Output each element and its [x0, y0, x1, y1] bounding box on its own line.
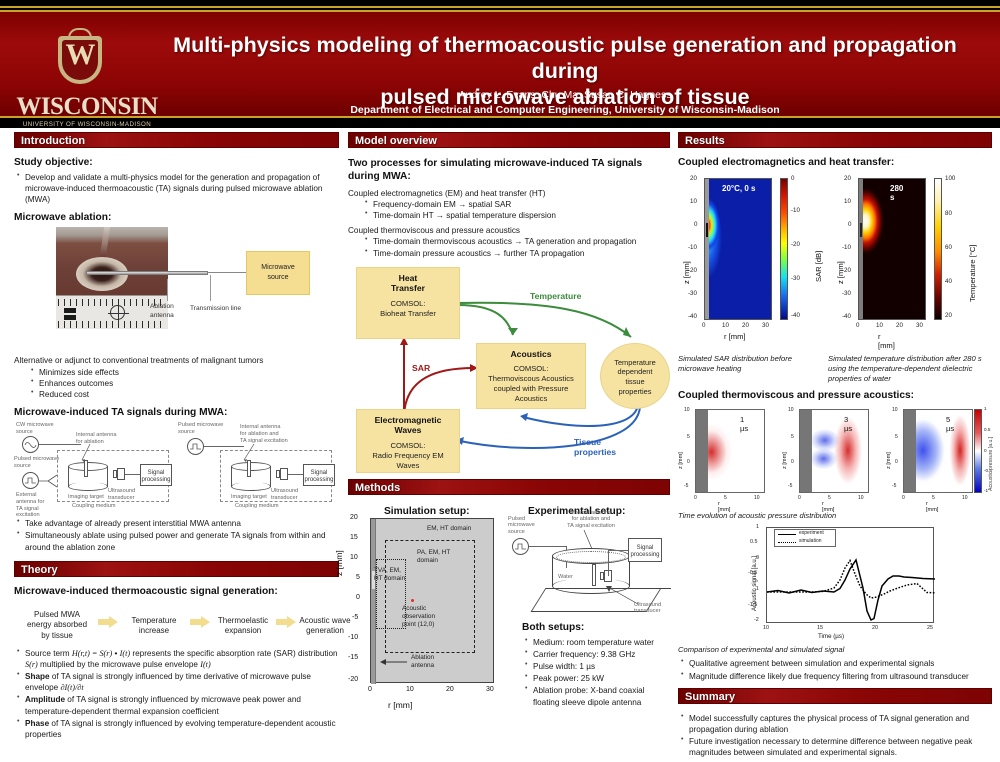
sim-xtick: 0 [368, 686, 372, 693]
sar-colorbar-label: SAR [dB] [814, 251, 823, 282]
external-antenna-icon [39, 472, 59, 490]
ac-ytick: 5 [791, 434, 794, 440]
flow-box-heat-transfer: HeatTransfer COMSOL:Bioheat Transfer [356, 267, 460, 339]
column-right: Results Coupled electromagnetics and hea… [678, 132, 992, 762]
section-header-methods: Methods [348, 479, 670, 495]
model-group-2-list: Time-domain thermoviscous acoustics → TA… [362, 236, 670, 258]
comparison-bullets: Qualitative agreement between simulation… [678, 658, 992, 681]
pulsed-source-label: Pulsedmicrowavesource [508, 516, 542, 536]
signal-processing-label: Signalprocessing [629, 539, 661, 559]
list-item: Phase of TA signal is strongly influence… [14, 718, 339, 740]
list-item: Ablation probe: X-band coaxial floating … [522, 685, 670, 707]
cmp-xtick: 25 [927, 625, 933, 631]
sim-xtick: 20 [446, 686, 454, 693]
temp-ytick: -10 [842, 244, 851, 251]
antenna-needle [86, 271, 208, 275]
list-item: Carrier frequency: 9.38 GHz [522, 649, 670, 660]
sim-ytick: 5 [356, 574, 360, 581]
study-objective-title: Study objective: [14, 157, 339, 168]
both-setups-list: Medium: room temperature water Carrier f… [522, 637, 670, 708]
sar-cb-tick: 0 [791, 175, 794, 182]
sar-ytick: 0 [694, 221, 697, 228]
ac-xtick: 10 [858, 495, 864, 501]
imaging-target-cylinder [68, 462, 108, 492]
cw-source-icon [22, 436, 39, 453]
ultrasound-transducer-label: Ultrasoundtransducer [634, 602, 670, 615]
ac-x-axis-label: r [mm] [926, 501, 938, 513]
sar-ytick: -10 [688, 244, 697, 251]
cmp-ytick: 0.5 [750, 539, 758, 545]
acoustic-pressure-figure: z [mm] 10 5 0 -5 1 µs 0 5 10 r [mm] z [m… [678, 405, 992, 509]
ac-ytick: 5 [687, 434, 690, 440]
cmp-ytick: -0.5 [748, 570, 757, 576]
both-setups-title: Both setups: [522, 622, 670, 633]
pulsed-source-icon [187, 438, 204, 455]
list-item: Pulse width: 1 µs [522, 661, 670, 672]
list-item: Frequency-domain EM → spatial SAR [362, 199, 670, 210]
list-item: Take advantage of already present inters… [14, 518, 339, 529]
heat-transfer-sub: COMSOL:Bioheat Transfer [357, 294, 459, 319]
sim-ytick: -20 [348, 676, 358, 683]
chain-step-1: Pulsed MWAenergy absorbedby tissue [18, 610, 96, 641]
ac-x-axis-label: r [mm] [822, 501, 834, 513]
list-item: Time-domain thermoviscous acoustics → TA… [362, 236, 670, 247]
model-group-1: Coupled electromagnetics (EM) and heat t… [348, 188, 670, 199]
sar-cb-tick: -20 [791, 241, 800, 248]
sim-xtick: 10 [406, 686, 414, 693]
sim-ytick: -10 [348, 634, 358, 641]
transmission-line-label: Transmission line [190, 305, 260, 313]
imaging-target-label: Imaging target [68, 494, 110, 501]
em-waves-sub: COMSOL:Radio Frequency EMWaves [357, 436, 459, 471]
internal-antenna-label: Internal antennafor ablation andTA signa… [562, 510, 620, 530]
chain-step-2: Temperatureincrease [120, 616, 188, 637]
temp-xtick: 30 [916, 322, 923, 329]
mwa-photo-figure: Microwavesource Ablationantenna Transmis… [14, 227, 339, 349]
temp-ytick: -20 [842, 267, 851, 274]
cmp-ytick: 0 [756, 555, 759, 561]
acoustics-title: Acoustics [477, 344, 585, 360]
ablation-antenna-arrow-icon [377, 658, 409, 666]
acoustic-colorbar [974, 409, 982, 493]
ac-ytick: -5 [892, 483, 896, 489]
sim-ytick: -5 [352, 614, 358, 621]
schematic-pulsed-only: Pulsed microwavesource Internal antennaf… [178, 422, 338, 514]
affiliation-line: Department of Electrical and Computer En… [170, 103, 960, 118]
comparison-legend: experiment simulation [774, 529, 836, 547]
signal-processing-box: Signalprocessing [628, 538, 662, 562]
model-flow-diagram: HeatTransfer COMSOL:Bioheat Transfer Aco… [348, 265, 670, 475]
poster-authors-block: Audrey L. Evans, Chu Ma, Susan C. Hagnes… [170, 88, 960, 118]
coupling-medium-label: Coupling medium [235, 503, 291, 510]
list-item: Time-domain HT → spatial temperature dis… [362, 210, 670, 221]
banner-gold-rule [0, 6, 1000, 8]
cmp-xtick: 20 [872, 625, 878, 631]
legend-label-experiment: experiment [799, 530, 824, 536]
sim-ytick: 20 [350, 514, 358, 521]
section-header-results: Results [678, 132, 992, 148]
ac-ytick: 10 [684, 407, 690, 413]
summary-bullets: Model successfully captures the physical… [678, 713, 992, 759]
pulsed-source-label: Pulsed microwavesource [14, 456, 60, 469]
alternative-line: Alternative or adjunct to conventional t… [14, 355, 339, 366]
list-item: Develop and validate a multi-physics mod… [14, 172, 339, 205]
temp-ytick: 20 [844, 175, 851, 182]
model-overview-title: Two processes for simulating microwave-i… [348, 157, 670, 184]
microwave-source-box: Microwavesource [246, 251, 310, 295]
chain-step-4: Acoustic wavegeneration [296, 616, 354, 637]
ac-xtick: 0 [798, 495, 801, 501]
legend-row-simulation: simulation [775, 538, 835, 546]
emht-captions: Simulated SAR distribution before microw… [678, 354, 992, 388]
sar-ytick: 10 [690, 198, 697, 205]
schematic-cw-plus-pulsed: CW microwavesource Pulsed microwavesourc… [14, 422, 174, 514]
ablation-antenna-label: Ablationantenna [411, 654, 449, 670]
list-item: Reduced cost [28, 389, 339, 400]
ac-xtick: 10 [962, 495, 968, 501]
sar-cb-tick: -30 [791, 275, 800, 282]
imaging-target-cylinder [231, 462, 271, 492]
section-title-results: Results [685, 134, 725, 148]
list-item: Model successfully captures the physical… [678, 713, 992, 735]
water-label: Water [558, 574, 573, 581]
ac-xtick: 0 [694, 495, 697, 501]
sar-caption: Simulated SAR distribution before microw… [678, 354, 820, 374]
acoustic-time-5us: 5 µs [946, 415, 954, 433]
signal-processing-box: Signalprocessing [140, 464, 172, 486]
banner-body: W WISCONSIN UNIVERSITY OF WISCONSIN-MADI… [0, 10, 1000, 118]
transmission-line-wire [208, 272, 246, 273]
temp-cb-tick: 100 [945, 175, 955, 182]
signal-processing-label: Signalprocessing [141, 465, 171, 484]
crest-letter: W [52, 38, 108, 72]
temp-ytick: 0 [848, 221, 851, 228]
model-group-2: Coupled thermoviscous and pressure acous… [348, 225, 670, 236]
sar-annotation: 20°C, 0 s [722, 184, 755, 193]
cw-source-label: CW microwavesource [16, 422, 60, 435]
sar-cb-tick: -10 [791, 207, 800, 214]
ac-ytick: 0 [687, 459, 690, 465]
internal-antenna-label: Internal antennafor ablation andTA signa… [240, 424, 294, 444]
temp-xtick: 20 [896, 322, 903, 329]
pulsed-source-icon [512, 538, 529, 555]
list-item: Medium: room temperature water [522, 637, 670, 648]
acoustic-time-3us: 3 µs [844, 415, 852, 433]
ac-cb-tick: 1 [984, 406, 987, 411]
internal-antenna-probe [592, 564, 596, 586]
acoustic-image-5us [903, 409, 973, 493]
temp-ytick: -30 [842, 290, 851, 297]
temp-annotation: 280 s [890, 184, 903, 202]
coupling-medium-label: Coupling medium [72, 503, 128, 510]
sar-x-axis-label: r [mm] [724, 332, 746, 341]
uw-wordmark: WISCONSIN UNIVERSITY OF WISCONSIN-MADISO… [12, 94, 162, 128]
model-group-1-list: Frequency-domain EM → spatial SAR Time-d… [362, 199, 670, 221]
sar-ytick: 20 [690, 175, 697, 182]
cmp-xtick: 10 [763, 625, 769, 631]
title-line-1: Multi-physics modeling of thermoacoustic… [170, 32, 960, 84]
sim-y-axis-label: z [mm] [334, 550, 344, 576]
list-item: Amplitude of TA signal is strongly influ… [14, 694, 339, 716]
flow-label-temperature: Temperature [530, 291, 581, 301]
ac-y-axis-label: z [mm] [782, 452, 788, 469]
ultrasound-transducer-icon [113, 468, 125, 480]
sim-ytick: -15 [348, 654, 358, 661]
section-title-methods: Methods [355, 481, 400, 495]
theory-bullets: Source term H(r,t) = S(r) • I(t) represe… [14, 648, 339, 740]
ultrasound-transducer-icon [276, 468, 288, 480]
ac-cb-tick: 0 [984, 448, 987, 453]
sar-ytick: -20 [688, 267, 697, 274]
ac-cb-tick: 0.5 [984, 427, 990, 432]
chain-step-3: Thermoelasticexpansion [210, 616, 276, 637]
em-ht-domain-label: EM, HT domain [427, 525, 489, 533]
tissue-properties-label: Temperaturedependenttissueproperties [601, 344, 669, 397]
sar-colorbar [780, 178, 788, 320]
section-header-introduction: Introduction [14, 132, 339, 148]
ac-ytick: 10 [788, 407, 794, 413]
chain-arrow-1-icon [98, 616, 118, 628]
section-title-model-overview: Model overview [355, 134, 437, 148]
sar-xtick: 20 [742, 322, 749, 329]
column-left: Introduction Study objective: Develop an… [14, 132, 339, 744]
sar-image [704, 178, 772, 320]
comparison-x-axis-label: Time (µs) [818, 633, 844, 640]
ta-closing-bullets: Take advantage of already present inters… [14, 518, 339, 552]
section-title-summary: Summary [685, 690, 735, 704]
legend-label-simulation: simulation [799, 538, 822, 544]
sar-xtick: 0 [702, 322, 705, 329]
emht-results-title: Coupled electromagnetics and heat transf… [678, 157, 992, 168]
temp-cb-tick: 60 [945, 244, 952, 251]
list-item: Time-domain pressure acoustics → further… [362, 248, 670, 259]
chain-arrow-3-icon [276, 616, 296, 628]
temp-cb-tick: 40 [945, 278, 952, 285]
signal-processing-label: Signalprocessing [304, 465, 334, 484]
flow-ellipse-tissue-properties: Temperaturedependenttissueproperties [600, 343, 670, 409]
acoustic-observation-label: Acousticobservationpoint (12,0) [402, 605, 446, 629]
list-item: Minimizes side effects [28, 367, 339, 378]
study-objective-list: Develop and validate a multi-physics mod… [14, 172, 339, 205]
ac-ytick: 10 [892, 407, 898, 413]
pulsed-source-icon [22, 472, 39, 489]
section-header-theory: Theory [14, 561, 339, 577]
ac-ytick: 0 [791, 459, 794, 465]
sim-ytick: 10 [350, 554, 358, 561]
sar-cb-tick: -40 [791, 312, 800, 319]
internal-antenna-probe [247, 460, 251, 477]
sar-xtick: 10 [722, 322, 729, 329]
cmp-ytick: 1 [756, 524, 759, 530]
acoustic-image-3us [799, 409, 869, 493]
acoustic-time-1us: 1 µs [740, 415, 748, 433]
sim-plot-area: EM, HT domain PA, EM, HTdomain TVA, EM,H… [370, 518, 494, 683]
temp-caption: Simulated temperature distribution after… [828, 354, 992, 385]
temp-x-axis-label: r [mm] [878, 332, 895, 350]
experimental-setup-drawing: Pulsedmicrowavesource Internal antennafo… [508, 510, 670, 630]
ultrasound-transducer-label: Ultrasoundtransducer [108, 488, 142, 501]
acoustics-results-title: Coupled thermoviscous and pressure acous… [678, 390, 992, 401]
simulation-setup-plot: z [mm] 20 15 10 5 0 -5 -10 -15 -20 EM, H… [348, 504, 670, 719]
list-item: Source term H(r,t) = S(r) • I(t) represe… [14, 648, 339, 670]
acoustic-colorbar-label: Acoustic pressure [a.u.] [988, 437, 994, 491]
internal-antenna-probe [84, 460, 88, 477]
section-title-introduction: Introduction [21, 134, 85, 148]
ac-ytick: 0 [895, 459, 898, 465]
ac-x-axis-label: r [mm] [718, 501, 730, 513]
ta-signal-schematic: CW microwavesource Pulsed microwavesourc… [14, 422, 339, 514]
list-item: Enhances outcomes [28, 378, 339, 389]
sim-xtick: 30 [486, 686, 494, 693]
comparison-chart: Acoustic signal [a.u.] 1 0.5 0 -0.5 -1 -… [678, 523, 992, 645]
temperature-colorbar [934, 178, 942, 320]
sar-ytick: -40 [688, 313, 697, 320]
tva-em-ht-domain-label: TVA, EM,HT domain [374, 567, 414, 583]
list-item: Future investigation necessary to determ… [678, 736, 992, 758]
sim-ytick: 15 [350, 534, 358, 541]
heat-transfer-title: HeatTransfer [357, 268, 459, 294]
flow-label-tissue-properties: Tissueproperties [574, 437, 616, 458]
cmp-ytick: -1.5 [748, 602, 757, 608]
list-item: Qualitative agreement between simulation… [678, 658, 992, 669]
ac-ytick: -5 [788, 483, 792, 489]
temp-ytick: 10 [844, 198, 851, 205]
temp-xtick: 0 [856, 322, 859, 329]
cmp-xtick: 15 [817, 625, 823, 631]
flow-box-em-waves: ElectromagneticWaves COMSOL:Radio Freque… [356, 409, 460, 473]
ultrasound-transducer-label: Ultrasoundtransducer [271, 488, 305, 501]
section-title-theory: Theory [21, 563, 58, 577]
uw-crest-icon: W [52, 28, 108, 90]
sar-xtick: 30 [762, 322, 769, 329]
ta-signals-title: Microwave-induced TA signals during MWA: [14, 407, 339, 418]
theory-process-chain: Pulsed MWAenergy absorbedby tissue Tempe… [14, 602, 339, 642]
poster-banner: W WISCONSIN UNIVERSITY OF WISCONSIN-MADI… [0, 0, 1000, 128]
list-item: Simultaneously ablate using pulsed power… [14, 530, 339, 552]
list-item: Shape of TA signal is strongly influence… [14, 671, 339, 693]
flow-box-acoustics: Acoustics COMSOL:Thermoviscous Acoustics… [476, 343, 586, 409]
ac-y-axis-label: z [mm] [886, 452, 892, 469]
both-setups-block: Both setups: Medium: room temperature wa… [522, 622, 670, 712]
signal-processing-box: Signalprocessing [303, 464, 335, 486]
list-item: Magnitude difference likely due frequenc… [678, 671, 992, 682]
ultrasound-transducer-icon [600, 570, 614, 584]
section-header-summary: Summary [678, 688, 992, 704]
cmp-ytick: -1 [754, 586, 759, 592]
sar-ytick: -30 [688, 290, 697, 297]
temperature-colorbar-label: Temperature [°C] [968, 245, 977, 302]
pa-em-ht-domain-label: PA, EM, HTdomain [417, 549, 461, 565]
chain-arrow-2-icon [190, 616, 210, 628]
theory-subtitle: Microwave-induced thermoacoustic signal … [14, 586, 339, 597]
ac-ytick: -5 [684, 483, 688, 489]
wordmark-subtext: UNIVERSITY OF WISCONSIN-MADISON [12, 121, 162, 128]
legend-row-experiment: experiment [775, 530, 835, 538]
authors-line: Audrey L. Evans, Chu Ma, Susan C. Hagnes… [170, 88, 960, 103]
column-middle: Model overview Two processes for simulat… [348, 132, 670, 719]
cmp-ytick: -2 [754, 617, 759, 623]
flow-label-sar: SAR [412, 363, 430, 373]
acoustics-sub: COMSOL:Thermoviscous Acousticscoupled wi… [477, 359, 585, 403]
em-waves-title: ElectromagneticWaves [357, 410, 459, 436]
section-header-model-overview: Model overview [348, 132, 670, 148]
emht-figure-row: z [mm] 20 10 0 -10 -20 -30 -40 20°C, 0 s… [678, 172, 992, 354]
temp-xtick: 10 [876, 322, 883, 329]
ac-ytick: 5 [895, 434, 898, 440]
comparison-caption: Comparison of experimental and simulated… [678, 645, 992, 655]
sim-x-axis-label: r [mm] [388, 700, 412, 710]
microwave-source-label: Microwavesource [247, 252, 309, 281]
ac-y-axis-label: z [mm] [678, 452, 684, 469]
wordmark-text: WISCONSIN [12, 94, 162, 119]
external-antenna-label: Externalantenna forTA signalexcitation [16, 492, 50, 519]
acoustic-image-1us [695, 409, 765, 493]
ablation-antenna-label: Ablationantenna [150, 303, 194, 319]
list-item: Peak power: 25 kW [522, 673, 670, 684]
temp-ytick: -40 [842, 313, 851, 320]
pulsed-source-label: Pulsed microwavesource [178, 422, 224, 435]
sim-ytick: 0 [356, 594, 360, 601]
ac-xtick: 10 [754, 495, 760, 501]
imaging-target-label: Imaging target [231, 494, 273, 501]
temp-cb-tick: 20 [945, 312, 952, 319]
ac-xtick: 0 [902, 495, 905, 501]
temp-cb-tick: 80 [945, 210, 952, 217]
acoustic-observation-point [411, 599, 414, 602]
alternative-benefits-list: Minimizes side effects Enhances outcomes… [28, 367, 339, 400]
microwave-ablation-title: Microwave ablation: [14, 212, 339, 223]
